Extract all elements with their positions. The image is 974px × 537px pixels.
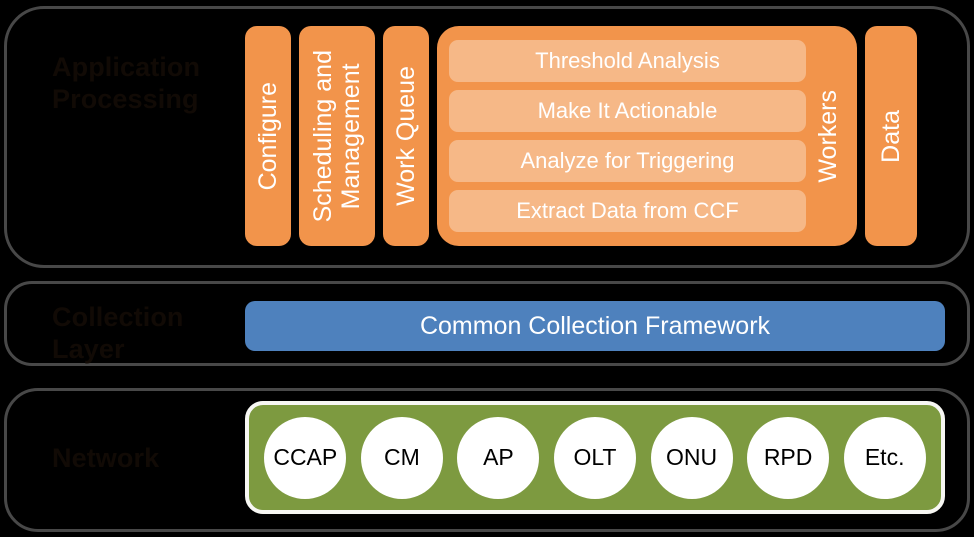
- device-node-label: AP: [483, 444, 514, 471]
- device-node-label: OLT: [573, 444, 616, 471]
- device-node[interactable]: ONU: [651, 417, 733, 499]
- device-node-label: ONU: [666, 444, 717, 471]
- device-node-label: CCAP: [273, 444, 337, 471]
- workers-list: Threshold Analysis Make It Actionable An…: [449, 40, 806, 232]
- worker-item[interactable]: Analyze for Triggering: [449, 140, 806, 182]
- worker-item[interactable]: Make It Actionable: [449, 90, 806, 132]
- column-configure-label: Configure: [254, 82, 282, 190]
- device-node[interactable]: OLT: [554, 417, 636, 499]
- device-node[interactable]: CCAP: [264, 417, 346, 499]
- device-node-label: Etc.: [865, 444, 905, 471]
- diagram-canvas: Application Processing Configure Schedul…: [0, 0, 974, 537]
- device-node[interactable]: AP: [457, 417, 539, 499]
- worker-item-label: Analyze for Triggering: [521, 148, 735, 174]
- device-node-label: CM: [384, 444, 420, 471]
- device-node[interactable]: RPD: [747, 417, 829, 499]
- worker-item-label: Extract Data from CCF: [516, 198, 738, 224]
- worker-item-label: Make It Actionable: [538, 98, 718, 124]
- workers-group-label: Workers: [806, 90, 851, 183]
- worker-item[interactable]: Extract Data from CCF: [449, 190, 806, 232]
- column-configure[interactable]: Configure: [245, 26, 291, 246]
- common-collection-framework-label: Common Collection Framework: [420, 312, 770, 341]
- worker-item[interactable]: Threshold Analysis: [449, 40, 806, 82]
- column-scheduling-and-management[interactable]: Scheduling and Management: [299, 26, 375, 246]
- application-processing-track: Configure Scheduling and Management Work…: [245, 26, 917, 246]
- common-collection-framework-bar[interactable]: Common Collection Framework: [245, 301, 945, 351]
- column-data-label: Data: [877, 110, 905, 163]
- column-scheduling-and-management-label: Scheduling and Management: [309, 50, 365, 222]
- column-data[interactable]: Data: [865, 26, 917, 246]
- network-device-bar: CCAP CM AP OLT ONU RPD Etc.: [245, 401, 945, 514]
- worker-item-label: Threshold Analysis: [535, 48, 720, 74]
- device-node-label: RPD: [764, 444, 813, 471]
- workers-group: Threshold Analysis Make It Actionable An…: [437, 26, 857, 246]
- device-node[interactable]: CM: [361, 417, 443, 499]
- device-node[interactable]: Etc.: [844, 417, 926, 499]
- column-work-queue[interactable]: Work Queue: [383, 26, 429, 246]
- column-work-queue-label: Work Queue: [392, 66, 420, 206]
